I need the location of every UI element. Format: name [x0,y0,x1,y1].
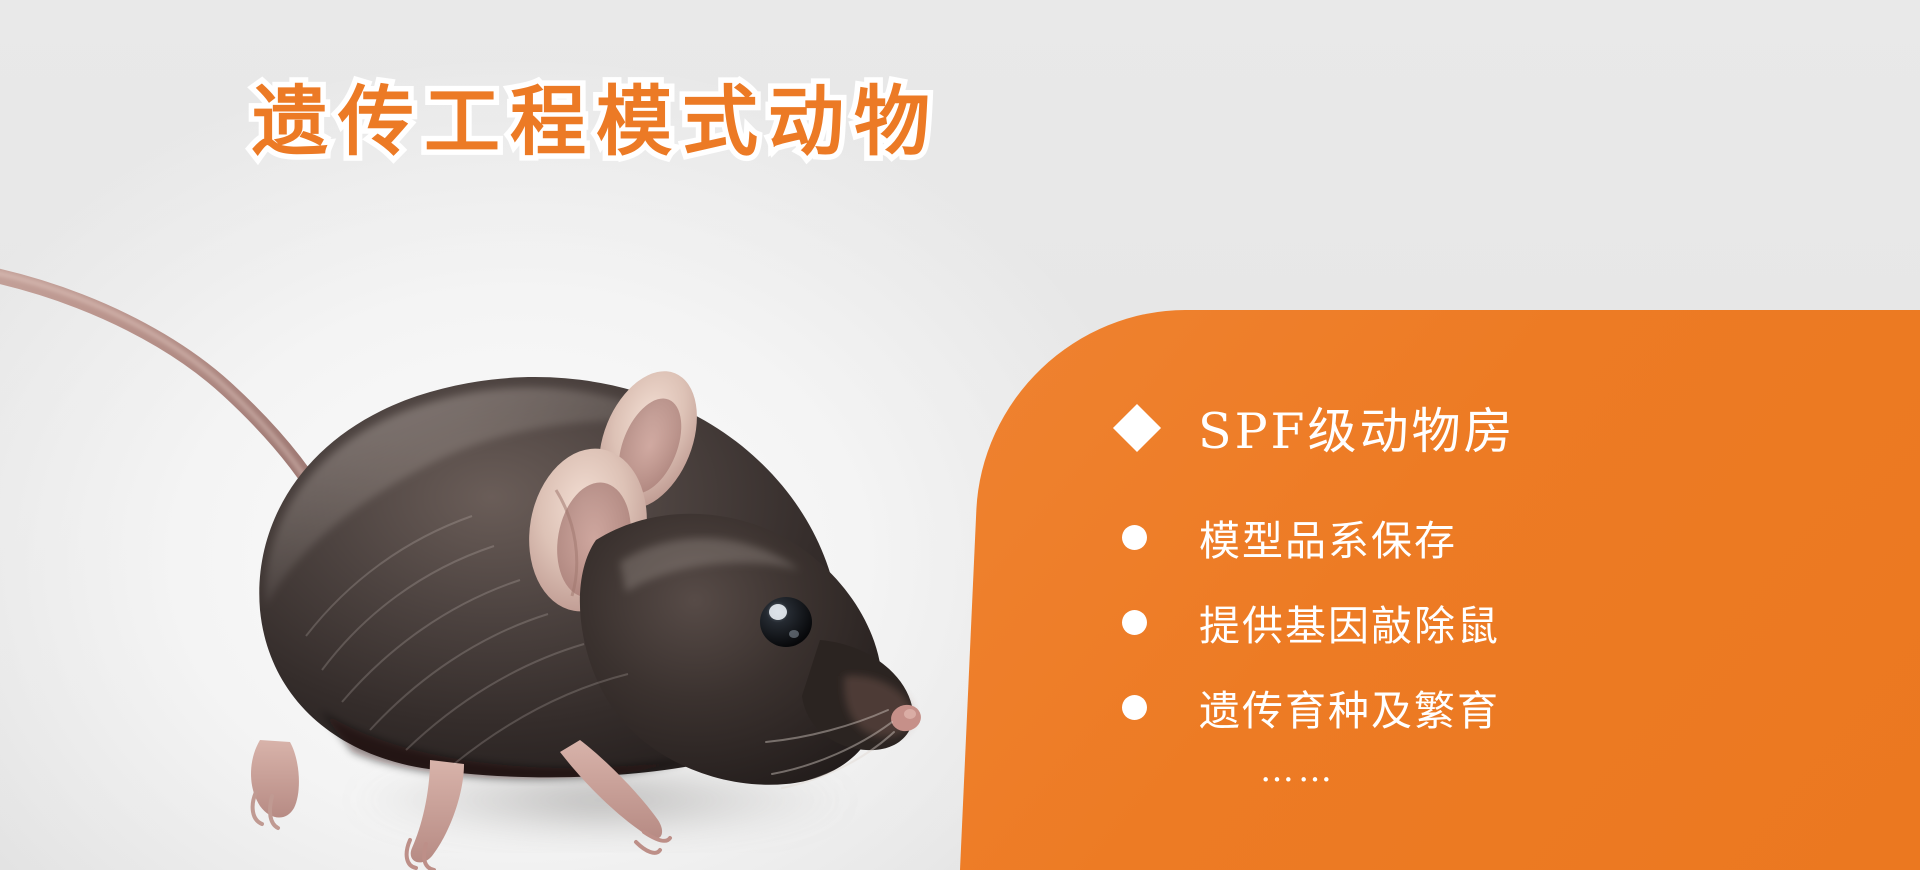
list-item-label: 遗传育种及繁育 [1199,677,1500,737]
round-bullet-icon [1122,610,1147,635]
page-title: 遗传工程模式动物 [252,82,940,162]
panel-heading-label: SPF级动物房 [1198,392,1516,463]
list-item: 提供基因敲除鼠 [1122,591,1500,653]
diamond-bullet-icon [1113,403,1161,451]
mouse-front-paw [251,740,299,828]
list-item-label: 模型品系保存 [1199,507,1457,567]
features-panel: SPF级动物房 模型品系保存 提供基因敲除鼠 遗传育种及繁育 …… [960,310,1920,870]
feature-list: 模型品系保存 提供基因敲除鼠 遗传育种及繁育 [1122,506,1500,761]
mouse-photo [0,240,960,870]
banner-root: 遗传工程模式动物 SPF级动物房 模型品系保存 提供基因敲除鼠 遗传育种及繁育 [0,0,1920,870]
list-item-label: 提供基因敲除鼠 [1199,592,1500,652]
round-bullet-icon [1122,695,1147,720]
round-bullet-icon [1122,525,1147,550]
mouse-eye [760,597,812,647]
mouse-tail [0,260,332,520]
panel-heading: SPF级动物房 [1120,392,1516,463]
list-item: 遗传育种及繁育 [1122,676,1500,738]
list-item: 模型品系保存 [1122,506,1500,568]
more-indicator: …… [1260,750,1336,790]
